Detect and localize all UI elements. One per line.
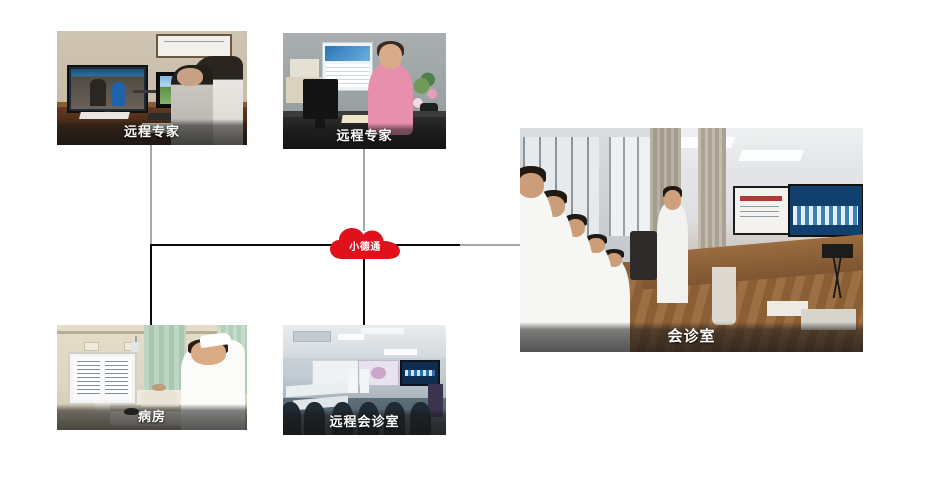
node-caption: 远程专家 (57, 119, 247, 145)
node-caption: 远程会诊室 (283, 409, 446, 435)
node-consultation-room[interactable]: 会诊室 (520, 128, 863, 352)
node-remote-consultation-room[interactable]: 远程会诊室 (283, 325, 446, 435)
node-caption: 病房 (57, 404, 247, 430)
connector-trunk-horizontal-left (150, 244, 332, 246)
connector-remote-expert-1-vertical (150, 145, 152, 245)
node-caption: 会诊室 (520, 322, 863, 352)
connector-remote-consultation-room-vertical (363, 254, 365, 326)
node-remote-expert-1[interactable]: 远程专家 (57, 31, 247, 145)
connector-ward-vertical (150, 244, 152, 326)
network-cloud[interactable]: 小德通 (330, 227, 400, 261)
node-remote-expert-2[interactable]: 远程专家 (283, 33, 446, 149)
connector-consultation-room-horizontal (394, 244, 460, 246)
diagram-canvas: 远程专家 远程专家 (0, 0, 925, 477)
connector-remote-expert-2-vertical (363, 149, 365, 231)
connector-consultation-room-horizontal-tail (460, 244, 522, 246)
node-ward[interactable]: 病房 (57, 325, 247, 430)
node-caption: 远程专家 (283, 123, 446, 149)
cloud-label: 小德通 (330, 238, 400, 253)
photo-consultation-room-doctors-screens (520, 128, 863, 352)
